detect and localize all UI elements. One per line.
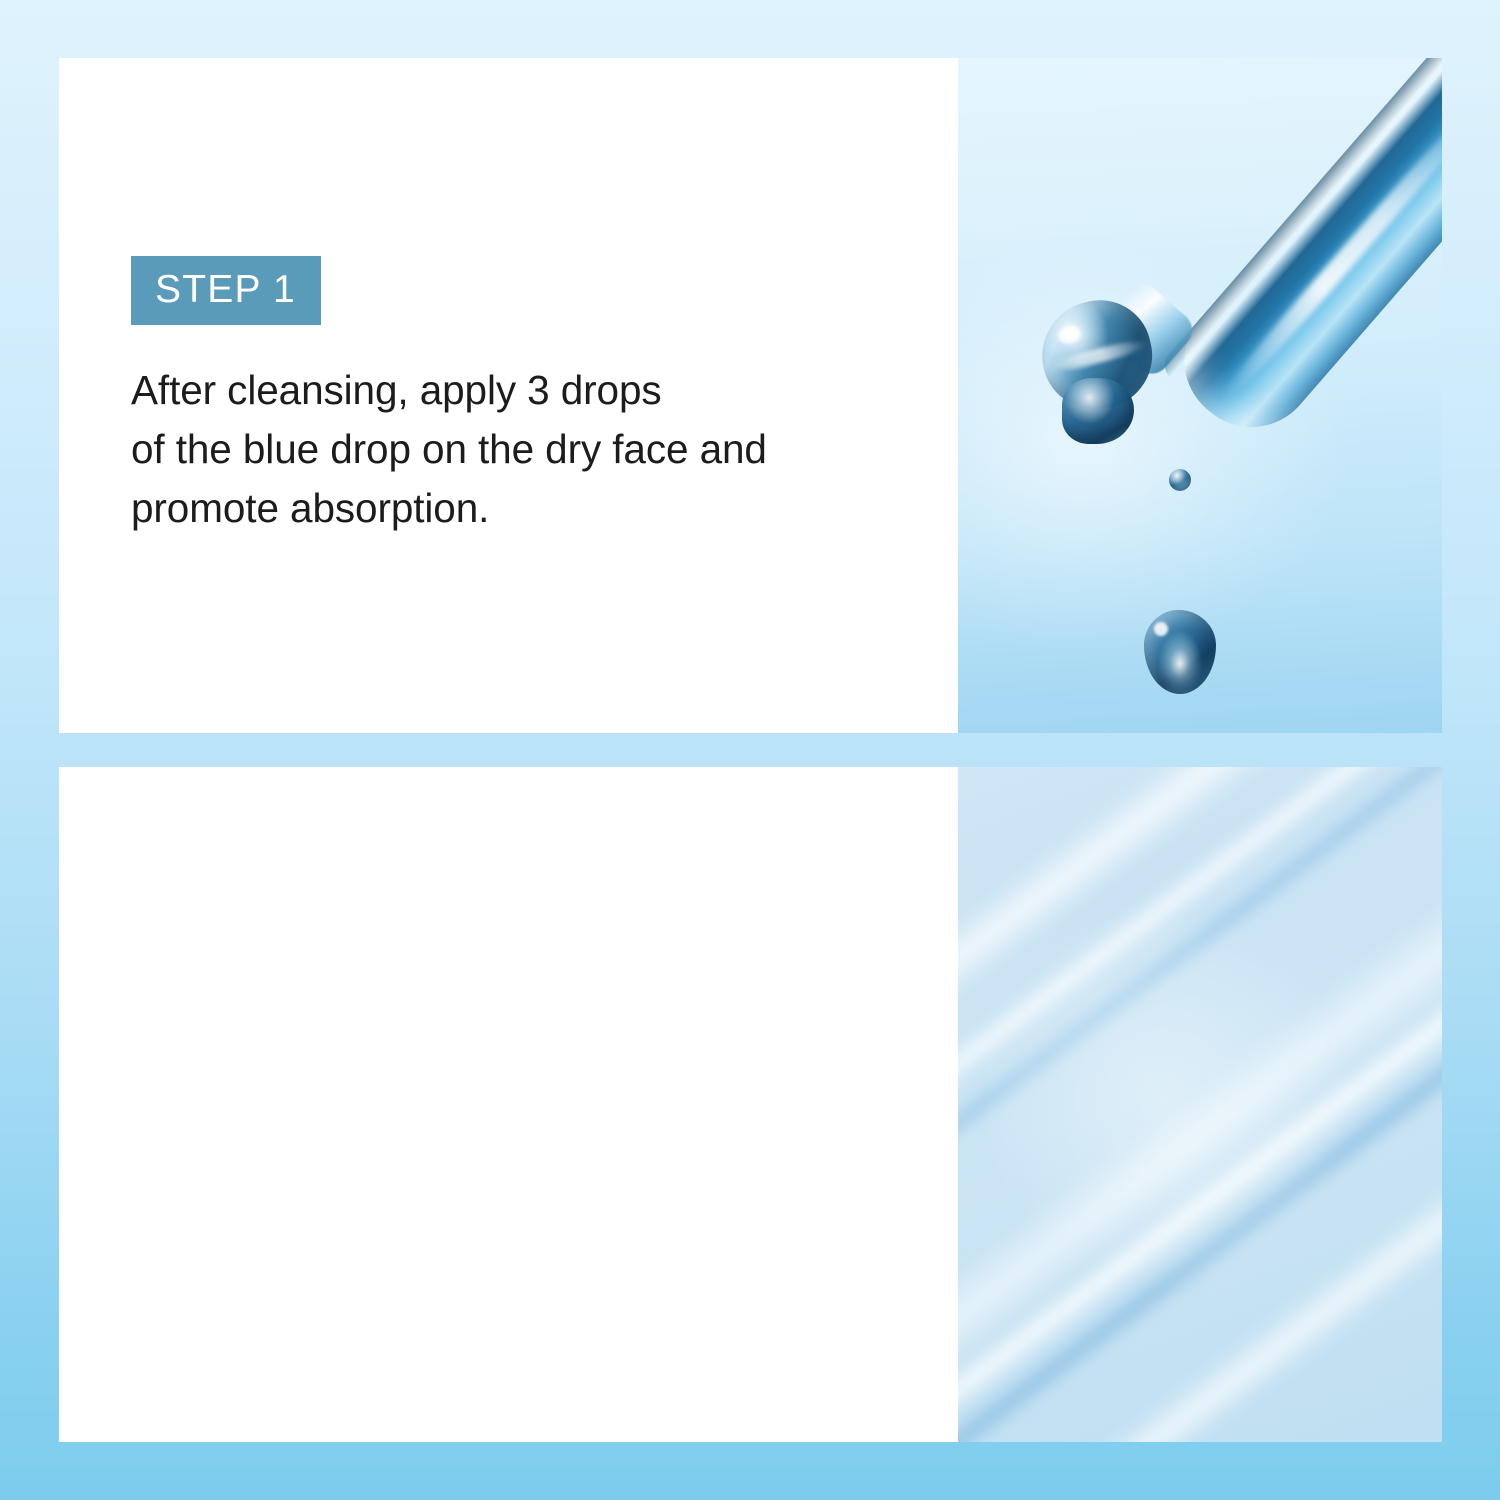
step-1-panel: STEP 1 After cleansing, apply 3 drops of… xyxy=(59,58,1442,733)
droplet-small-icon xyxy=(1169,469,1191,491)
tube-highlight xyxy=(1215,95,1442,407)
step-2-panel: STEP 2 After prepping the skin with the … xyxy=(59,767,1442,1442)
droplet-large-icon xyxy=(1144,610,1216,694)
bulb-specular-highlight xyxy=(1057,324,1082,345)
tube-dark-edge xyxy=(1158,58,1442,377)
step-1-text-side: STEP 1 After cleansing, apply 3 drops of… xyxy=(59,58,958,733)
pending-drop xyxy=(1062,378,1134,444)
step-2-image-side xyxy=(958,767,1442,1442)
step-1-image-side xyxy=(958,58,1442,733)
step-1-description: After cleansing, apply 3 drops of the bl… xyxy=(131,361,938,538)
cream-texture-photo xyxy=(958,767,1442,1442)
step-2-text-side: STEP 2 After prepping the skin with the … xyxy=(59,767,958,1442)
dropper-photo xyxy=(958,58,1442,733)
dropper-tube-icon xyxy=(1158,58,1442,453)
step-1-badge: STEP 1 xyxy=(131,256,321,325)
step-1-text-block: STEP 1 After cleansing, apply 3 drops of… xyxy=(131,256,938,538)
